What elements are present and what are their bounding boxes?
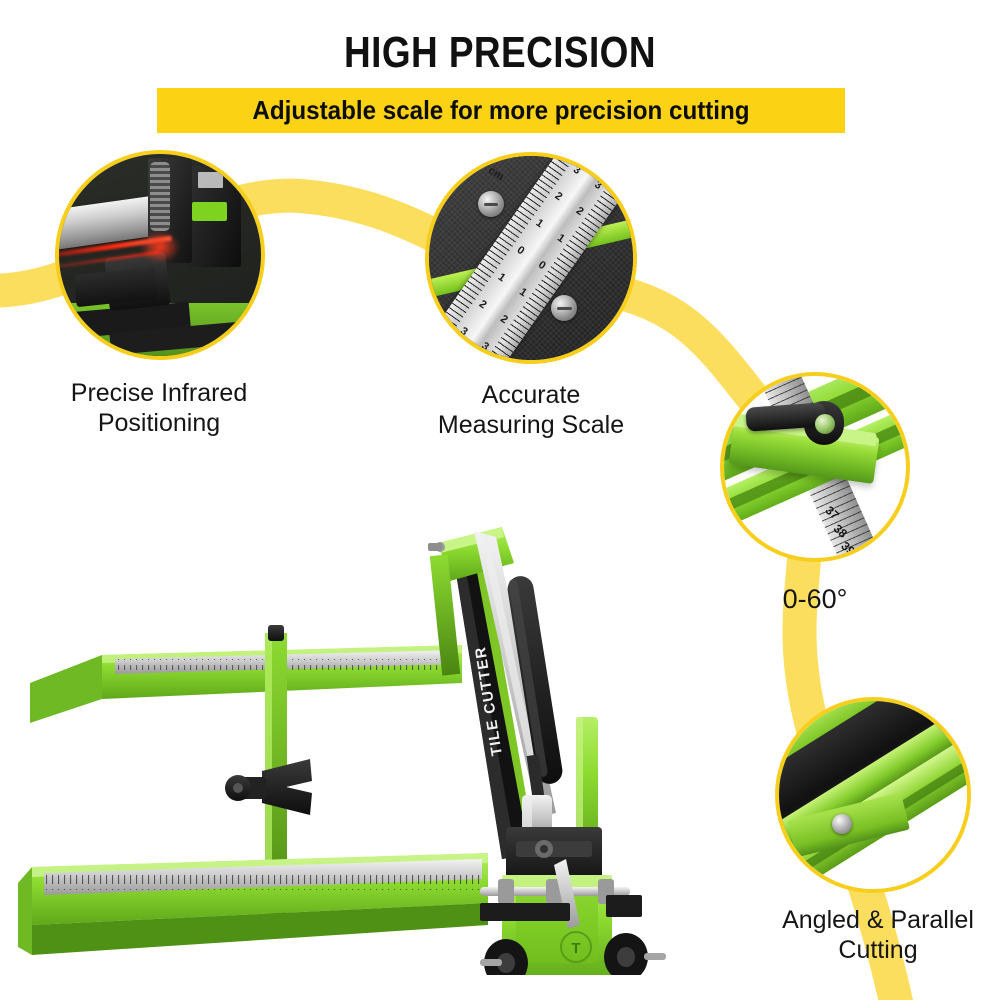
product-image-tile-cutter: TILE CUTTER: [10, 455, 690, 975]
ruler-num: 3: [479, 340, 491, 353]
laser-guide-closeup-image: [59, 154, 261, 356]
ruler-screw-top: [478, 191, 504, 217]
rail-bed-closeup-image: [779, 701, 967, 889]
callout-photo-ruler: 3 2 1 0 1 2 3 3 2 1 0 1 2: [425, 152, 637, 364]
callout-photo-rail-bed: [775, 697, 971, 893]
callout-caption-angle-range: 0-60°: [665, 584, 965, 614]
ruler-num: 0: [514, 244, 526, 257]
ruler-num: 1: [533, 217, 545, 230]
angle-clamp-closeup-image: 30 31 32 37 38 39 40: [724, 376, 906, 558]
subtitle-banner: Adjustable scale for more precision cutt…: [157, 88, 845, 133]
callout-caption-measuring-scale: Accurate Measuring Scale: [381, 380, 681, 440]
rear-rail: [30, 645, 462, 723]
rail-screw: [832, 814, 852, 834]
infographic-page: HIGH PRECISION Adjustable scale for more…: [0, 0, 1000, 1000]
laser-barrel: [150, 162, 170, 231]
callout-photo-infrared: [55, 150, 265, 360]
subtitle-text: Adjustable scale for more precision cutt…: [181, 88, 821, 133]
ruler-num: 3: [458, 325, 470, 338]
callout-caption-infrared: Precise Infrared Positioning: [9, 378, 309, 438]
callout-photo-angle-clamp: 30 31 32 37 38 39 40: [720, 372, 910, 562]
callout-accurate-measuring-scale[interactable]: 3 2 1 0 1 2 3 3 2 1 0 1 2: [425, 152, 637, 364]
callout-angled-parallel-cutting[interactable]: Angled & Parallel Cutting: [775, 697, 971, 893]
ruler-closeup-image: 3 2 1 0 1 2 3 3 2 1 0 1 2: [429, 156, 633, 360]
ruler-screw-bottom: [551, 295, 577, 321]
page-title: HIGH PRECISION: [80, 28, 920, 78]
callout-precise-infrared-positioning[interactable]: Precise Infrared Positioning: [55, 150, 265, 360]
ruler-num: 2: [477, 298, 489, 311]
housing-label: [198, 172, 222, 188]
green-sticker: [192, 202, 226, 220]
ruler-num: 0: [536, 259, 548, 272]
ruler-num: 3: [592, 178, 604, 191]
ruler-num: 2: [552, 190, 564, 203]
ruler-num: 2: [573, 205, 585, 218]
ruler-num: 1: [517, 286, 529, 299]
front-rail: [18, 853, 488, 955]
ruler-num: 1: [555, 232, 567, 245]
ruler-num: 3: [571, 163, 583, 176]
callout-angle-range[interactable]: 30 31 32 37 38 39 40 0-60°: [720, 372, 910, 562]
ruler-num: 1: [495, 271, 507, 284]
frame-marking: T: [571, 940, 580, 957]
callout-caption-angled-parallel: Angled & Parallel Cutting: [733, 905, 1000, 965]
ruler-num: 2: [498, 313, 510, 326]
laser-glow: [140, 231, 180, 263]
